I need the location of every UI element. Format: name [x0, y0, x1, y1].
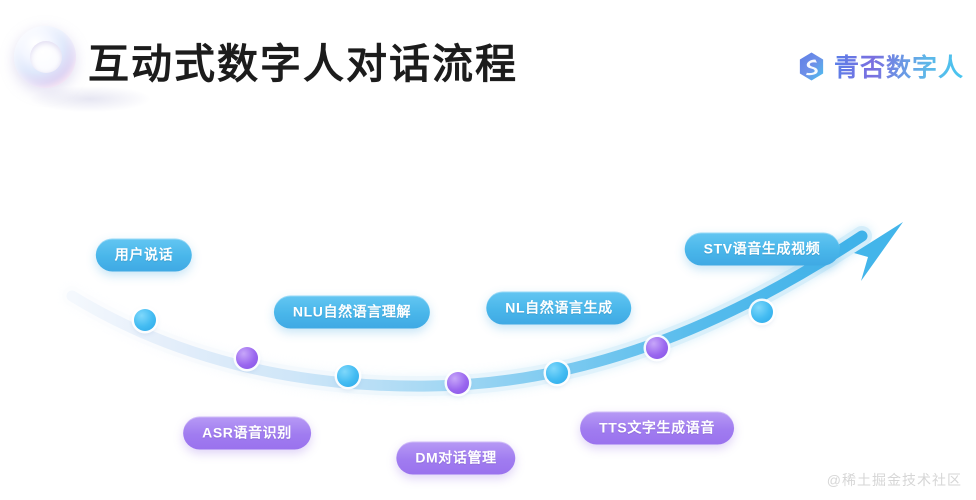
badge-stv[interactable]: STV语音生成视频	[685, 233, 840, 266]
page-title: 互动式数字人对话流程	[88, 30, 518, 90]
badge-nlu[interactable]: NLU自然语言理解	[274, 296, 430, 329]
node-tts	[646, 337, 668, 359]
node-asr	[236, 347, 258, 369]
node-nlg	[546, 362, 568, 384]
node-stv	[751, 301, 773, 323]
slide-header: 互动式数字人对话流程 青否数字人	[0, 0, 976, 118]
node-nlu	[337, 365, 359, 387]
badge-tts[interactable]: TTS文字生成语音	[580, 412, 734, 445]
slide-canvas: 互动式数字人对话流程 青否数字人	[0, 0, 976, 500]
flow-diagram: 用户说话 ASR语音识别 NLU自然语言理解 DM对话管理 NL自然语言生成 T…	[0, 118, 976, 500]
brand-name: 青否数字人	[834, 48, 964, 84]
gradient-orb-icon	[14, 26, 76, 88]
badge-user-speaks[interactable]: 用户说话	[96, 239, 192, 272]
watermark: @稀土掘金技术社区	[827, 470, 962, 490]
badge-asr[interactable]: ASR语音识别	[183, 417, 311, 450]
node-dm	[447, 372, 469, 394]
badge-dm[interactable]: DM对话管理	[396, 442, 515, 475]
badge-nlg[interactable]: NL自然语言生成	[486, 292, 631, 325]
node-user-speaks	[134, 309, 156, 331]
hexagon-s-logo-icon	[796, 51, 827, 82]
brand-logo: 青否数字人	[796, 48, 964, 84]
